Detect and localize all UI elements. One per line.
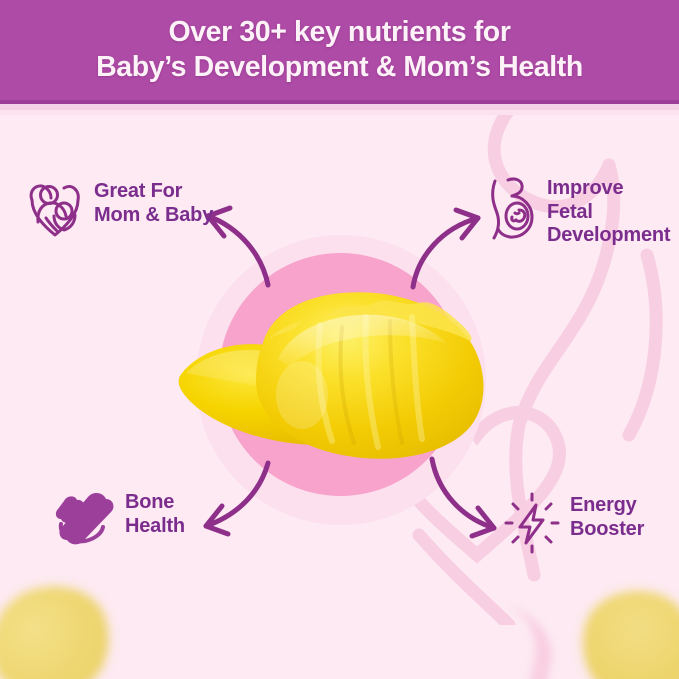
feature-energy-booster: Energy Booster [503,492,644,554]
corner-swoosh-decor [440,594,561,679]
infographic-root: Over 30+ key nutrients for Baby’s Develo… [0,0,679,679]
header-line-2: Baby’s Development & Mom’s Health [96,50,583,85]
crossed-bones-icon [55,489,117,551]
pregnant-belly-fetus-icon [488,175,538,243]
feature-bone-health: Bone Health [55,489,185,551]
header-banner: Over 30+ key nutrients for Baby’s Develo… [0,0,679,100]
arrow-bottom-right-head [472,508,494,536]
arrow-top-right-head [456,210,478,238]
header-line-1: Over 30+ key nutrients for [168,15,510,50]
lightning-bolt-rays-icon [503,492,561,554]
feature-label-fetal-development: Improve Fetal Development [547,177,670,248]
feature-label-bone-health: Bone Health [125,491,185,538]
mother-holding-baby-heart-icon [24,178,86,240]
corner-gummy-left [0,571,124,679]
header-divider-pink-light [0,110,679,115]
feature-mom-and-baby: Great For Mom & Baby [24,178,213,240]
feature-fetal-development: Improve Fetal Development [488,175,670,248]
feature-label-energy-booster: Energy Booster [570,494,644,541]
corner-gummy-right [572,580,679,679]
arrow-bottom-left-head [206,506,228,534]
gummy-product-image [170,255,510,485]
feature-label-mom-and-baby: Great For Mom & Baby [94,180,213,227]
